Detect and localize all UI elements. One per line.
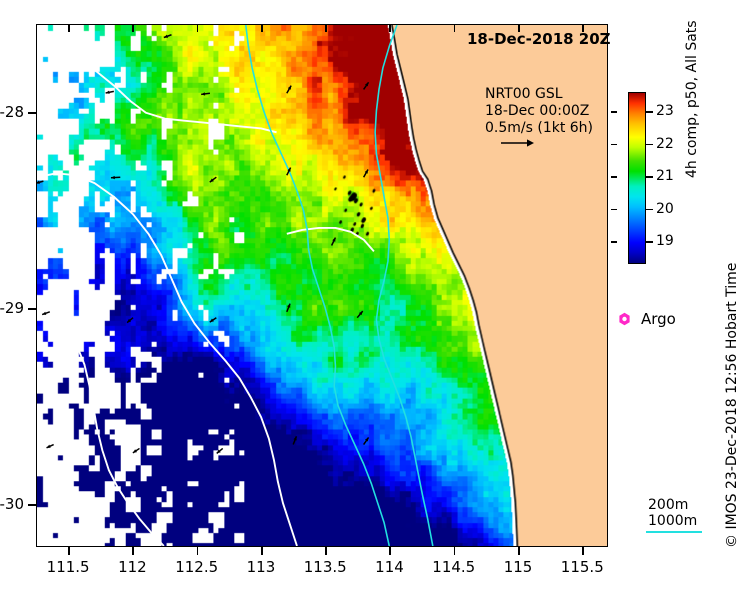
colorbar-tick-label: 21 xyxy=(656,168,674,184)
gsl-annotation-block: NRT00 GSL 18-Dec 00:00Z 0.5m/s (1kt 6h) xyxy=(485,86,593,137)
y-axis-tick-label: -30 xyxy=(0,495,24,513)
x-axis-tick-label: 114 xyxy=(375,558,404,576)
isobath-200m xyxy=(37,318,164,546)
current-vector-arrow xyxy=(217,448,223,453)
colorbar-tick xyxy=(646,241,653,242)
right-arrow-icon xyxy=(500,137,534,149)
colorbar-tick-label: 22 xyxy=(656,136,674,152)
current-vector-arrow xyxy=(364,170,368,178)
colorbar-tick-left xyxy=(611,241,617,242)
x-axis-tick-label: 114.5 xyxy=(432,558,475,576)
current-vector-arrow xyxy=(106,91,114,94)
current-vector-arrow xyxy=(164,35,172,38)
x-axis-tick xyxy=(582,547,584,555)
colorbar-tick-left xyxy=(611,209,617,210)
gsl-product-label: NRT00 GSL xyxy=(485,86,593,103)
x-axis-tick-top xyxy=(454,24,456,32)
argo-legend-row: Argo xyxy=(617,310,676,328)
x-axis-tick-top xyxy=(132,24,134,32)
colorbar-gradient xyxy=(628,92,646,264)
x-axis-tick-label: 112 xyxy=(118,558,147,576)
current-vector-arrow xyxy=(364,82,369,89)
sst-map-figure: 18-Dec-2018 20Z NRT00 GSL 18-Dec 00:00Z … xyxy=(0,0,739,592)
colorbar-tick xyxy=(646,144,653,145)
copyright-text: © IMOS 23-Dec-2018 12:56 Hobart Time xyxy=(724,263,739,548)
current-vector-arrow xyxy=(332,238,336,246)
x-axis-tick-top xyxy=(389,24,391,32)
x-axis-tick-top xyxy=(261,24,263,32)
x-axis-tick-top xyxy=(325,24,327,32)
colorbar-tick-label: 19 xyxy=(656,233,674,249)
isobath-1000m xyxy=(375,25,433,546)
x-axis-tick-top xyxy=(518,24,520,32)
x-axis-tick xyxy=(325,547,327,555)
colorbar-tick-left xyxy=(611,111,617,112)
current-vector-arrow xyxy=(210,318,217,322)
x-axis-tick-top xyxy=(197,24,199,32)
y-axis-tick-label: -28 xyxy=(0,103,24,121)
current-vector-arrow xyxy=(37,181,43,184)
isobath-200m xyxy=(37,173,297,546)
colorbar-tick-left xyxy=(611,144,617,145)
x-axis-tick-label: 113 xyxy=(247,558,276,576)
colorbar-tick-label: 20 xyxy=(656,201,674,217)
argo-float-marker-icon xyxy=(617,312,632,327)
colorbar-tick xyxy=(646,111,653,112)
y-axis-tick xyxy=(28,308,36,310)
y-axis-tick xyxy=(28,504,36,506)
depth-1000m-label: 1000m xyxy=(648,513,697,529)
current-vector-arrow xyxy=(357,311,362,318)
gsl-time-label: 18-Dec 00:00Z xyxy=(485,103,593,120)
colorbar-title: 4h comp, p50, All Sats xyxy=(684,20,700,178)
x-axis-tick xyxy=(389,547,391,555)
colorbar-tick xyxy=(646,176,653,177)
current-vector-arrow xyxy=(127,318,133,323)
depth-200m-label: 200m xyxy=(648,497,697,513)
argo-legend-label: Argo xyxy=(641,310,676,328)
x-axis-tick xyxy=(261,547,263,555)
current-vector-arrow xyxy=(287,86,291,94)
current-vector-arrow xyxy=(42,312,50,315)
x-axis-tick-top xyxy=(582,24,584,32)
current-vector-arrow xyxy=(201,92,210,95)
colorbar-tick-label: 23 xyxy=(656,103,674,119)
x-axis-tick xyxy=(518,547,520,555)
colorbar-tick xyxy=(646,209,653,210)
x-axis-tick xyxy=(454,547,456,555)
y-axis-tick-label: -29 xyxy=(0,299,24,317)
timestamp-title: 18-Dec-2018 20Z xyxy=(467,30,611,48)
y-axis-tick xyxy=(28,112,36,114)
depth-1000m-legend-line xyxy=(646,531,702,533)
x-axis-tick-label: 112.5 xyxy=(175,558,218,576)
isobath-200m xyxy=(37,39,277,133)
x-axis-tick xyxy=(132,547,134,555)
current-vector-arrow xyxy=(111,176,120,179)
x-axis-tick xyxy=(68,547,70,555)
depth-contour-legend: 200m 1000m xyxy=(648,497,697,529)
isobath-1000m xyxy=(246,25,389,546)
x-axis-tick-label: 115 xyxy=(504,558,533,576)
current-vector-arrow xyxy=(210,177,217,182)
current-vector-arrow xyxy=(47,445,54,448)
current-vector-arrow xyxy=(133,448,140,452)
x-axis-tick-label: 111.5 xyxy=(47,558,90,576)
current-vector-arrow xyxy=(364,437,369,444)
x-axis-tick xyxy=(197,547,199,555)
colorbar-tick-left xyxy=(611,176,617,177)
current-vector-arrow xyxy=(293,436,296,444)
gsl-speed-label: 0.5m/s (1kt 6h) xyxy=(485,120,593,137)
isobath-200m xyxy=(287,228,374,251)
current-vector-arrow xyxy=(287,304,290,312)
x-axis-tick-top xyxy=(68,24,70,32)
x-axis-tick-label: 115.5 xyxy=(561,558,604,576)
x-axis-tick-label: 113.5 xyxy=(304,558,347,576)
